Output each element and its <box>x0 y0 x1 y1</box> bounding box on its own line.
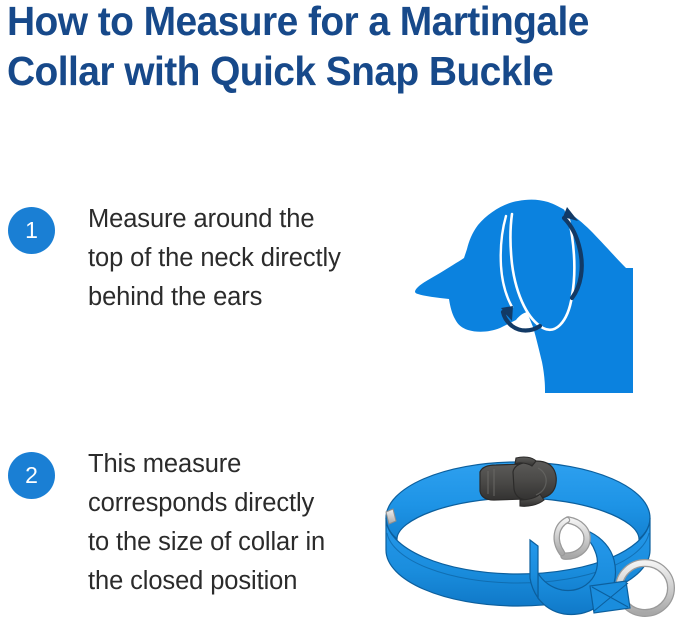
infographic-page: How to Measure for a Martingale Collar w… <box>0 0 679 623</box>
step-1-number-badge: 1 <box>8 207 55 254</box>
step-2-number: 2 <box>25 464 38 487</box>
dog-body-shape <box>415 200 633 393</box>
step-1-text-line-3: behind the ears <box>88 278 408 317</box>
page-title-line-2: Collar with Quick Snap Buckle <box>7 46 645 96</box>
step-2-text-line-2: corresponds directly <box>88 484 408 523</box>
step-2-text-line-4: the closed position <box>88 562 408 601</box>
collar-stitched-tab <box>590 581 630 613</box>
page-title-line-1: How to Measure for a Martingale <box>7 0 645 46</box>
step-2-number-badge: 2 <box>8 452 55 499</box>
step-1-text-line-1: Measure around the <box>88 200 408 239</box>
step-1-text: Measure around the top of the neck direc… <box>88 200 408 317</box>
step-2-text-line-3: to the size of collar in <box>88 523 408 562</box>
collar-d-ring-upper <box>557 520 587 556</box>
martingale-collar-illustration <box>368 440 679 623</box>
dog-head-illustration <box>400 180 679 400</box>
step-2-text: This measure corresponds directly to the… <box>88 445 408 601</box>
step-1-number: 1 <box>25 219 38 242</box>
step-1-text-line-2: top of the neck directly <box>88 239 408 278</box>
page-title: How to Measure for a Martingale Collar w… <box>7 0 679 96</box>
step-2-text-line-1: This measure <box>88 445 408 484</box>
